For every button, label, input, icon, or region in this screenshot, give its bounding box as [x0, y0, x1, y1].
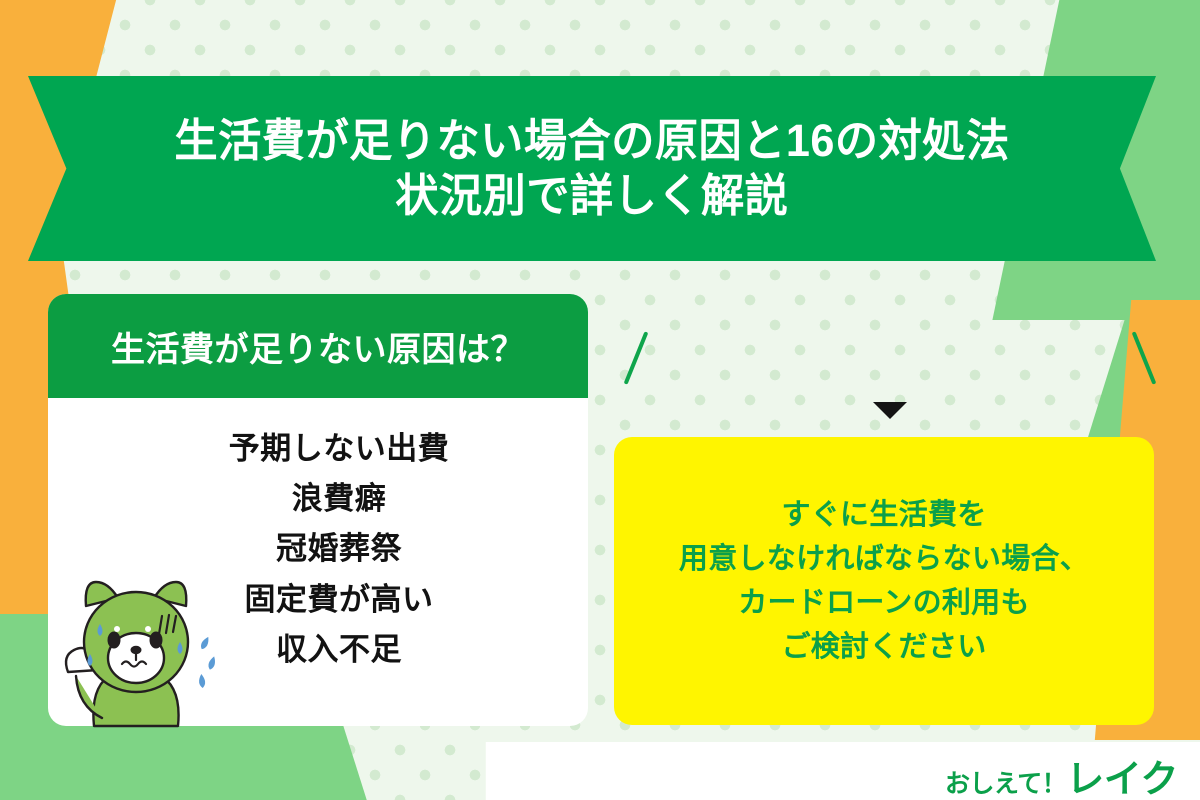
infographic-canvas: 生活費が足りない場合の原因と16の対処法 状況別で詳しく解説 生活費が足りない原… [0, 0, 1200, 800]
list-item: 固定費が高い [245, 575, 434, 625]
slash-left-decoration [624, 331, 649, 384]
title-line-2: 状況別で詳しく解説 [395, 170, 788, 222]
list-item: 冠婚葬祭 [276, 524, 402, 574]
list-item: 収入不足 [276, 625, 402, 675]
down-arrow-icon [873, 402, 907, 419]
worried-bear-mascot-icon [56, 568, 236, 733]
slash-right-decoration [1132, 331, 1157, 384]
causes-card-header-label: 生活費が足りない原因は？ [111, 322, 525, 371]
title-line-1: 生活費が足りない場合の原因と16の対処法 [174, 115, 1009, 167]
advice-line: 用意しなければならない場合、 [679, 537, 1089, 581]
title-ribbon: 生活費が足りない場合の原因と16の対処法 状況別で詳しく解説 [28, 76, 1156, 261]
causes-card-header: 生活費が足りない原因は？ [48, 294, 588, 398]
advice-card: すぐに生活費を 用意しなければならない場合、 カードローンの利用も ご検討くださ… [614, 437, 1154, 725]
list-item: 予期しない出費 [229, 424, 450, 474]
list-item: 浪費癖 [292, 474, 387, 524]
brand-logo-name: レイク [1066, 748, 1178, 800]
advice-line: すぐに生活費を [781, 493, 986, 537]
advice-line: ご検討ください [781, 625, 986, 669]
advice-line: カードローンの利用も [738, 581, 1030, 625]
brand-logo-prefix: おしえて！ [945, 764, 1066, 800]
brand-logo: おしえて！ レイク [945, 748, 1178, 792]
